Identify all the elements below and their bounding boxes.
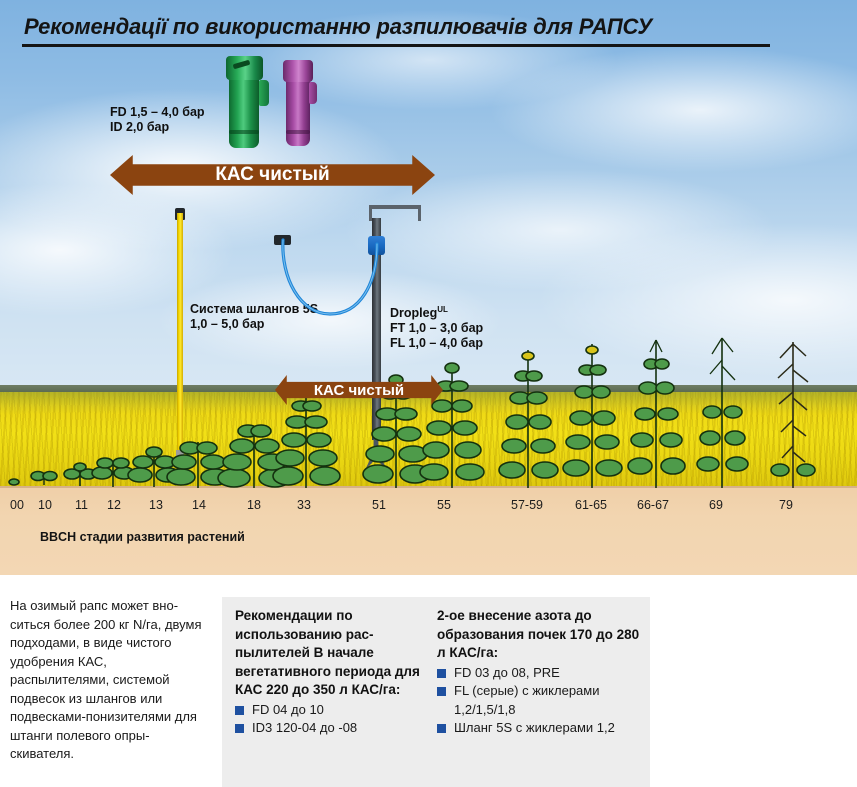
bbch-stage-69: 69: [709, 498, 723, 512]
arrow-kas-top: КАС чистый: [110, 155, 435, 195]
column-second-application: 2-ое внесение азота до образования почек…: [437, 607, 642, 738]
plant-growth-row: [0, 330, 857, 490]
plant-stage-11: [64, 463, 96, 486]
bbch-stage-51: 51: [372, 498, 386, 512]
first-application-heading: Рекомендации по использованию рас-пылите…: [235, 607, 420, 700]
plant-stage-12: [92, 458, 134, 487]
label-fd-line1: FD 1,5 – 4,0 бар: [110, 105, 205, 120]
second-application-list: FD 03 до 08, PREFL (серые) с жиклерами 1…: [437, 664, 642, 738]
column-first-application: Рекомендации по использованию рас-пылите…: [235, 607, 420, 738]
bullet-square-icon: [235, 724, 244, 733]
label-fd-id: FD 1,5 – 4,0 бар ID 2,0 бар: [110, 105, 205, 135]
plant-stage-69: [697, 338, 748, 488]
label-id-line2: ID 2,0 бар: [110, 120, 205, 135]
second-application-label: Шланг 5S с жиклерами 1,2: [454, 720, 615, 735]
bbch-stage-13: 13: [149, 498, 163, 512]
bbch-stage-18: 18: [247, 498, 261, 512]
title-underline: [22, 44, 770, 47]
arrow-top-label: КАС чистый: [215, 164, 329, 186]
poster-illustration: Рекомендації по використанню разпилювачі…: [0, 0, 857, 575]
bbch-stage-12: 12: [107, 498, 121, 512]
bullet-square-icon: [437, 687, 446, 696]
dropleg-boom: [369, 205, 421, 209]
first-application-label: FD 04 до 10: [252, 702, 324, 717]
label-dropleg-name: DroplegUL: [390, 302, 483, 321]
second-application-item: FL (серые) с жиклерами 1,2/1,5/1,8: [437, 682, 642, 719]
dropleg-superscript: UL: [437, 305, 448, 314]
bbch-stage-79: 79: [779, 498, 793, 512]
plant-stage-79: [771, 342, 815, 488]
second-application-item: Шланг 5S с жиклерами 1,2: [437, 719, 642, 738]
second-application-item: FD 03 до 08, PRE: [437, 664, 642, 683]
intro-paragraph: На озимый рапс может вно-ситься более 20…: [10, 597, 208, 764]
first-application-item: FD 04 до 10: [235, 701, 420, 720]
dropleg-boom-right-arm: [418, 205, 421, 221]
bullet-square-icon: [235, 706, 244, 715]
page-title: Рекомендації по використанню разпилювачі…: [24, 14, 652, 40]
bullet-square-icon: [437, 724, 446, 733]
first-application-label: ID3 120-04 до -08: [252, 720, 357, 735]
bbch-stage-00: 00: [10, 498, 24, 512]
first-application-list: FD 04 до 10ID3 120-04 до -08: [235, 701, 420, 738]
plant-stage-10: [31, 472, 57, 486]
arrow-kas-bottom: КАС чистый: [275, 375, 443, 405]
bottom-section: На озимый рапс может вно-ситься более 20…: [0, 575, 857, 787]
bullet-square-icon: [437, 669, 446, 678]
plant-stage-66-67: [628, 340, 685, 488]
nozzle-purple-icon: [282, 60, 318, 146]
bbch-stage-55: 55: [437, 498, 451, 512]
bbch-stage-66-67: 66-67: [637, 498, 669, 512]
bbch-stage-10: 10: [38, 498, 52, 512]
plant-stage-61-65: [563, 344, 622, 488]
plant-stage-57-59: [499, 350, 558, 488]
plant-stage-33: [273, 396, 340, 488]
second-application-label: FD 03 до 08, PRE: [454, 665, 560, 680]
first-application-item: ID3 120-04 до -08: [235, 719, 420, 738]
bbch-stage-57-59: 57-59: [511, 498, 543, 512]
arrow-bottom-label: КАС чистый: [314, 382, 404, 399]
bbch-stage-11: 11: [75, 498, 88, 512]
second-application-heading: 2-ое внесение азота до образования почек…: [437, 607, 642, 663]
nozzle-green-icon: [224, 56, 270, 148]
bbch-caption: BBCH стадии развития растений: [40, 530, 245, 544]
second-application-label: FL (серые) с жиклерами 1,2/1,5/1,8: [454, 683, 599, 717]
plant-stage-00: [9, 479, 19, 485]
bbch-stage-61-65: 61-65: [575, 498, 607, 512]
bbch-stage-33: 33: [297, 498, 311, 512]
bbch-stage-14: 14: [192, 498, 206, 512]
blue-hose: [278, 238, 382, 320]
